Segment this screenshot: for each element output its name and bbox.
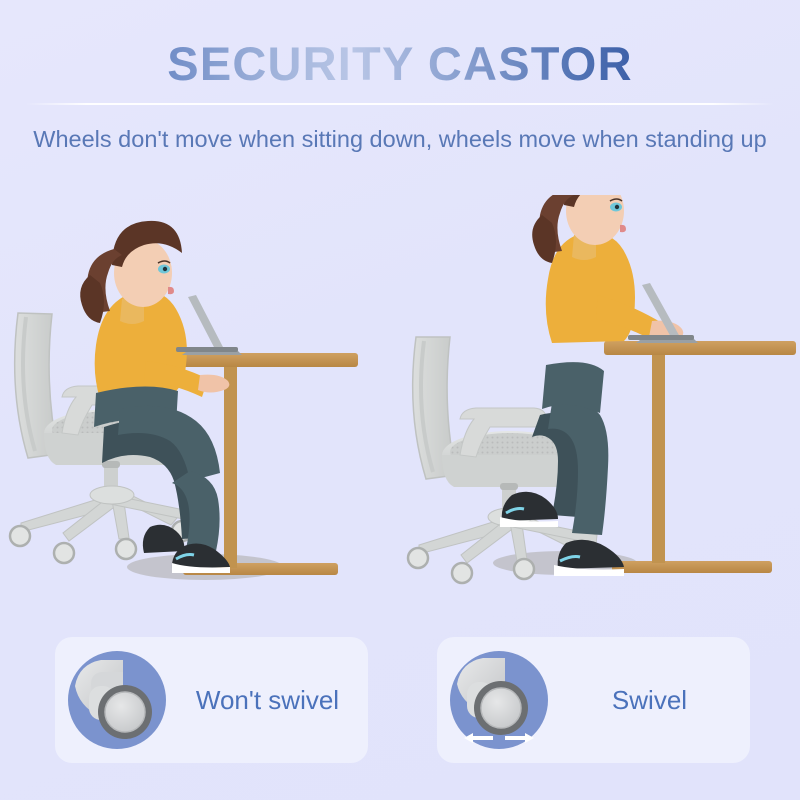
sneaker-front — [554, 540, 624, 576]
page-subtitle: Wheels don't move when sitting down, whe… — [0, 126, 800, 153]
caster-swivel-icon — [443, 644, 555, 756]
person-sitting — [80, 221, 230, 573]
desk — [604, 341, 796, 573]
card-label-wont-swivel: Won't swivel — [173, 685, 368, 716]
card-label-swivel: Swivel — [555, 685, 750, 716]
caption-card-wont-swivel[interactable]: Won't swivel — [55, 637, 368, 763]
caption-card-swivel[interactable]: Swivel — [437, 637, 750, 763]
illustration-standing-at-desk — [400, 195, 800, 615]
caster-locked-icon — [61, 644, 173, 756]
infographic-root: SECURITY CASTOR Wheels don't move when s… — [0, 0, 800, 800]
illustration-sitting-at-desk — [0, 195, 400, 615]
header-divider — [26, 103, 774, 105]
page-title: SECURITY CASTOR — [0, 36, 800, 91]
